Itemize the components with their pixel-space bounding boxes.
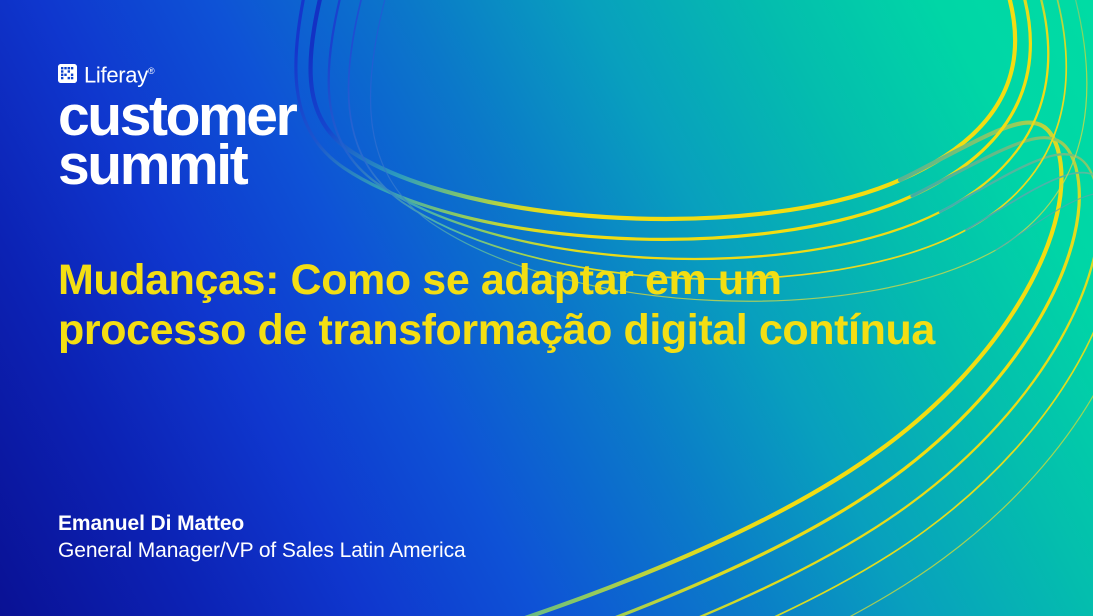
- event-wordmark: customer summit: [58, 92, 295, 190]
- speaker-credits: Emanuel Di Matteo General Manager/VP of …: [58, 510, 466, 565]
- registered-trademark-symbol: ®: [148, 66, 154, 76]
- liferay-grid-icon: [58, 64, 77, 83]
- title-slide: Liferay® customer summit Mudanças: Como …: [0, 0, 1093, 616]
- liferay-logo: Liferay®: [58, 62, 295, 84]
- speaker-name: Emanuel Di Matteo: [58, 510, 466, 537]
- speaker-role: General Manager/VP of Sales Latin Americ…: [58, 537, 466, 565]
- slide-title: Mudanças: Como se adaptar em um processo…: [58, 255, 958, 355]
- brand-logo-lockup: Liferay® customer summit: [58, 62, 295, 190]
- liferay-wordmark: Liferay®: [84, 60, 154, 86]
- liferay-wordmark-text: Liferay: [84, 62, 148, 87]
